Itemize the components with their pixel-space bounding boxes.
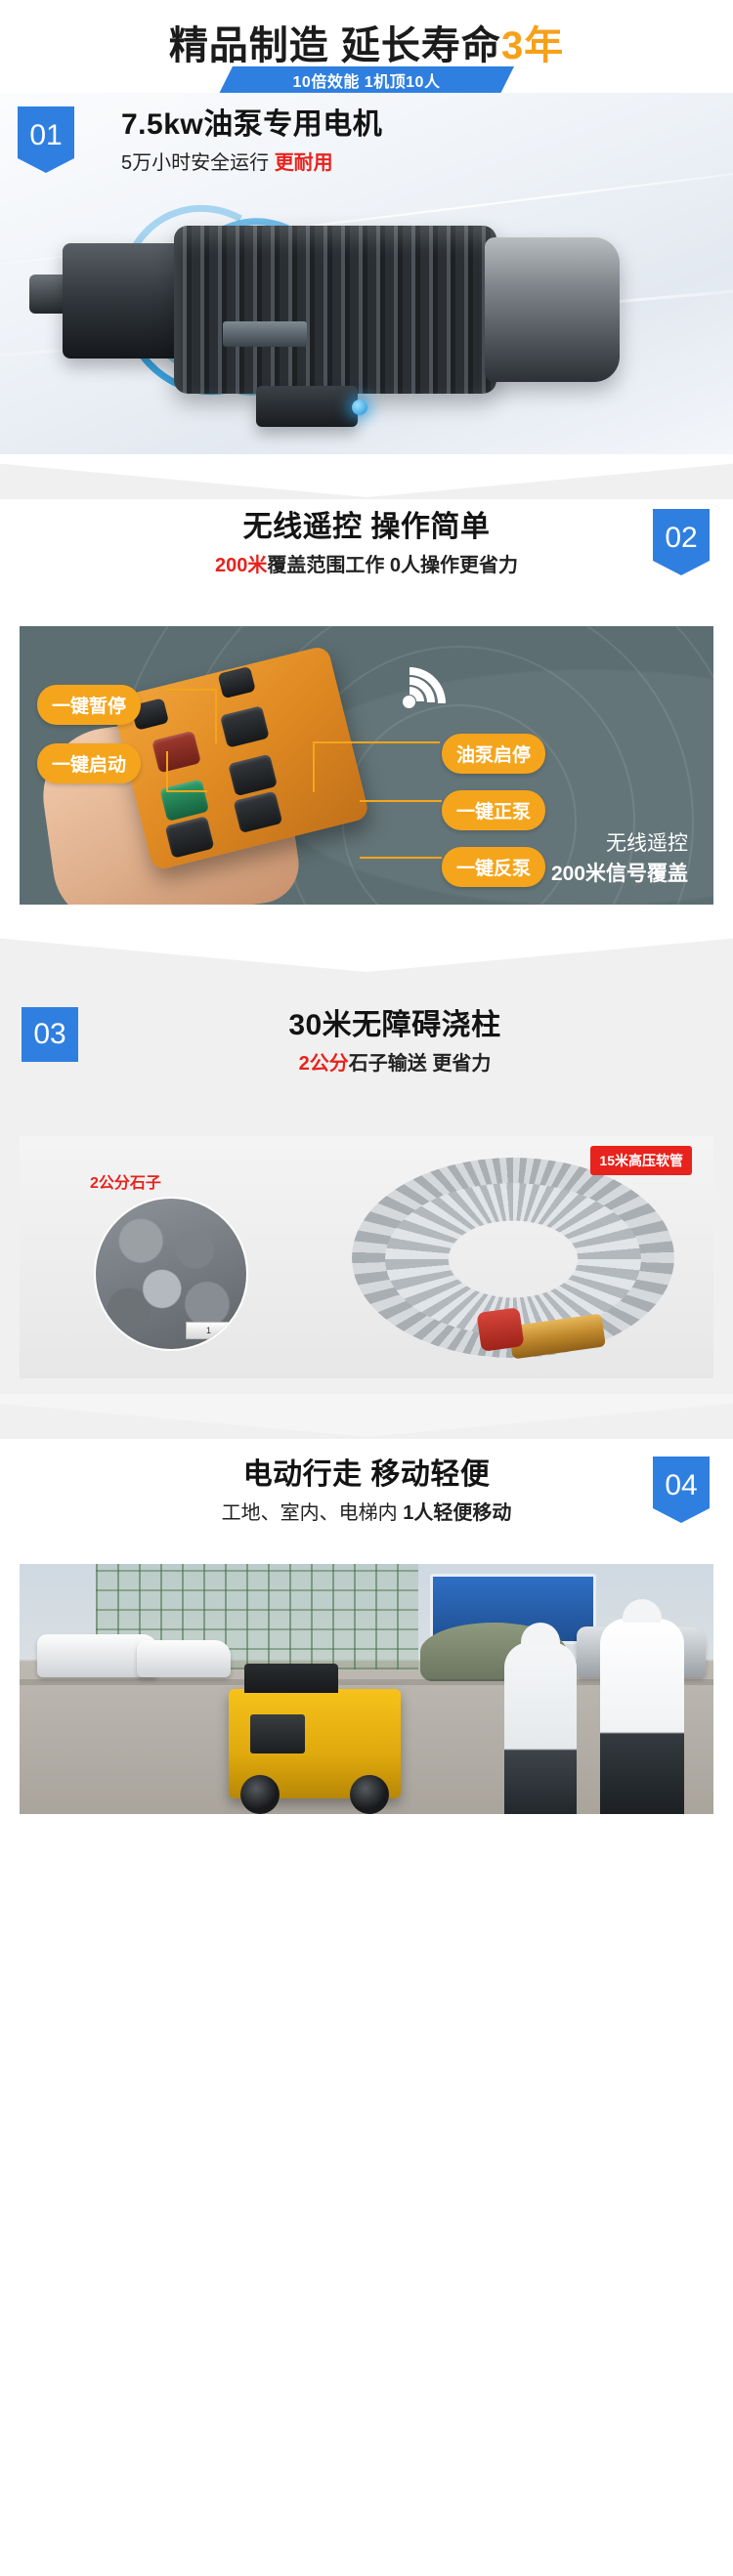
callout-leader-line — [166, 689, 217, 691]
section-03-title: 30米无障碍浇柱 — [78, 1007, 711, 1044]
callout-leader-line — [166, 751, 168, 792]
callout-start: 一键启动 — [37, 743, 141, 783]
section-02: 无线遥控 操作简单 200米覆盖范围工作 0人操作更省力 02 — [0, 499, 733, 929]
callout-pump-toggle: 油泵启停 — [442, 734, 545, 774]
machine-wheel — [240, 1775, 280, 1814]
section-divider-chevron — [0, 1394, 733, 1439]
section-04-headings: 电动行走 移动轻便 工地、室内、电梯内 1人轻便移动 — [0, 1457, 733, 1526]
gravel-and-hose-photo: 1 2 2公分石子 15米高压软管 — [20, 1136, 713, 1378]
page-title-main: 精品制造 延长寿命 — [169, 24, 501, 67]
parked-car — [137, 1640, 231, 1677]
machine-hopper — [244, 1664, 338, 1693]
motor-nameplate — [223, 321, 307, 347]
page-title-accent: 3年 — [501, 24, 564, 67]
page-title: 精品制造 延长寿命3年 — [0, 14, 733, 70]
callout-leader-line — [360, 800, 442, 802]
section-03-badge: 03 — [22, 1007, 78, 1062]
hose-length-badge: 15米高压软管 — [590, 1146, 692, 1175]
mortar-pump-machine — [229, 1689, 401, 1798]
section-02-header: 无线遥控 操作简单 200米覆盖范围工作 0人操作更省力 02 — [0, 509, 733, 578]
callout-leader-line — [215, 691, 217, 743]
section-02-subtitle-accent: 200米 — [215, 555, 267, 576]
callout-leader-line — [166, 790, 207, 792]
motor-end-cap — [485, 237, 620, 382]
section-01-header: 01 7.5kw油泵专用电机 5万小时安全运行 更耐用 — [18, 106, 733, 176]
ruler-scale: 1 2 — [186, 1322, 248, 1339]
section-01-badge: 01 — [18, 106, 74, 173]
section-04: 电动行走 移动轻便 工地、室内、电梯内 1人轻便移动 04 — [0, 1439, 733, 1830]
hose-red-coupler — [476, 1307, 524, 1352]
section-02-title: 无线遥控 操作简单 — [0, 509, 733, 546]
section-03-subtitle: 2公分石子输送 更省力 — [78, 1051, 711, 1077]
remote-caption-line1: 无线遥控 — [551, 829, 688, 859]
section-04-subtitle-accent: 1人轻便移动 — [403, 1502, 511, 1524]
hero-ribbon: 10倍效能 1机顶10人 — [219, 66, 514, 94]
motor-body — [174, 226, 496, 394]
section-03-headings: 30米无障碍浇柱 2公分石子输送 更省力 — [78, 1007, 711, 1077]
wifi-signal-icon — [401, 648, 471, 708]
callout-leader-line — [360, 857, 442, 859]
section-02-subtitle: 200米覆盖范围工作 0人操作更省力 — [0, 553, 733, 578]
gravel-closeup-circle: 1 2 — [94, 1197, 248, 1351]
callout-pause: 一键暂停 — [37, 685, 141, 725]
worker-operator — [504, 1642, 577, 1814]
callout-reverse-pump: 一键反泵 — [442, 847, 545, 887]
section-04-subtitle: 工地、室内、电梯内 1人轻便移动 — [0, 1500, 733, 1526]
section-01: 01 7.5kw油泵专用电机 5万小时安全运行 更耐用 — [0, 93, 733, 454]
section-divider-chevron — [0, 454, 733, 499]
gravel-size-label: 2公分石子 — [90, 1169, 161, 1193]
section-01-subtitle: 5万小时安全运行 更耐用 — [121, 150, 733, 176]
section-03-subtitle-plain: 石子输送 更省力 — [349, 1053, 492, 1075]
construction-site-photo — [20, 1564, 713, 1814]
section-03-header: 03 30米无障碍浇柱 2公分石子输送 更省力 — [22, 1007, 711, 1077]
section-01-title: 7.5kw油泵专用电机 — [121, 106, 733, 144]
callout-leader-line — [313, 741, 315, 792]
remote-caption: 无线遥控 200米信号覆盖 — [551, 829, 688, 889]
motor-gearbox — [63, 243, 182, 359]
motor-junction-box — [256, 386, 358, 427]
section-02-subtitle-plain: 覆盖范围工作 0人操作更省力 — [267, 555, 518, 576]
ruler-mark: 1 — [206, 1326, 211, 1335]
machine-wheel — [350, 1775, 389, 1814]
safety-helmet — [623, 1599, 662, 1623]
section-02-headings: 无线遥控 操作简单 200米覆盖范围工作 0人操作更省力 — [0, 509, 733, 578]
motor-indicator-light — [352, 400, 367, 415]
machine-control-panel — [250, 1714, 305, 1753]
hero-ribbon-label: 10倍效能 1机顶10人 — [293, 68, 441, 92]
section-03: 03 30米无障碍浇柱 2公分石子输送 更省力 1 2 2公分石子 15米高压软… — [0, 974, 733, 1394]
worker-bystander — [600, 1619, 684, 1814]
section-01-subtitle-plain: 5万小时安全运行 — [121, 152, 275, 174]
section-01-subtitle-accent: 更耐用 — [275, 152, 333, 174]
motor-illustration — [29, 198, 704, 443]
hero-header: 精品制造 延长寿命3年 10倍效能 1机顶10人 — [0, 0, 733, 93]
section-04-title: 电动行走 移动轻便 — [0, 1457, 733, 1494]
section-divider-chevron — [0, 929, 733, 974]
section-04-header: 电动行走 移动轻便 工地、室内、电梯内 1人轻便移动 04 — [0, 1457, 733, 1526]
section-04-subtitle-plain: 工地、室内、电梯内 — [222, 1502, 404, 1524]
callout-leader-line — [313, 741, 440, 743]
callout-forward-pump: 一键正泵 — [442, 790, 545, 830]
section-01-headings: 7.5kw油泵专用电机 5万小时安全运行 更耐用 — [74, 106, 733, 176]
remote-caption-line2: 200米信号覆盖 — [551, 860, 688, 889]
section-03-subtitle-accent: 2公分 — [299, 1053, 349, 1075]
